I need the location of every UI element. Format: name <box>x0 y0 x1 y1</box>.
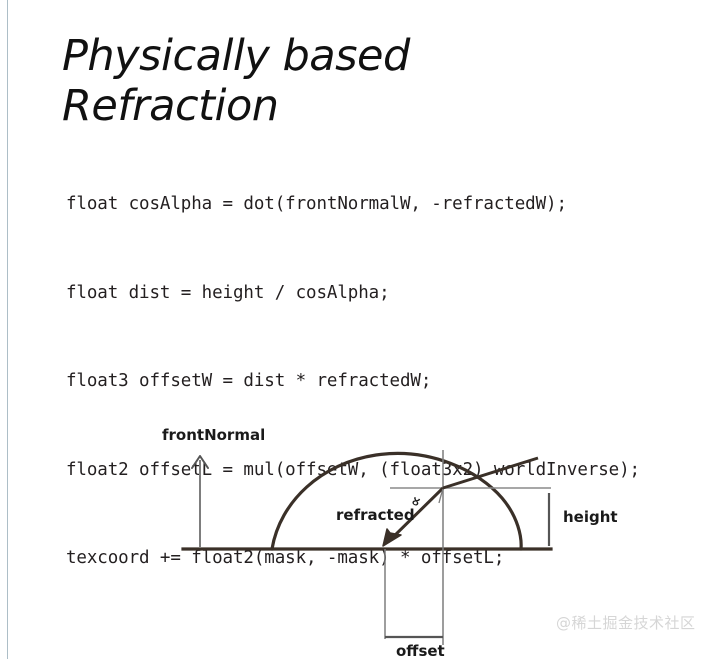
slide-canvas: Physically based Refraction float cosAlp… <box>0 0 720 659</box>
watermark: @稀土掘金技术社区 <box>556 612 696 633</box>
code-line: float cosAlpha = dot(frontNormalW, -refr… <box>66 190 666 220</box>
refracted-label: refracted <box>336 506 415 524</box>
page-title: Physically based Refraction <box>62 31 662 131</box>
front-normal-label: frontNormal <box>162 426 265 444</box>
slide-left-rule <box>7 0 8 659</box>
code-line: float dist = height / cosAlpha; <box>66 279 666 309</box>
incident-ray <box>443 458 538 488</box>
offset-label: offset <box>396 642 445 659</box>
code-line: float3 offsetW = dist * refractedW; <box>66 367 666 397</box>
height-label: height <box>563 508 618 526</box>
